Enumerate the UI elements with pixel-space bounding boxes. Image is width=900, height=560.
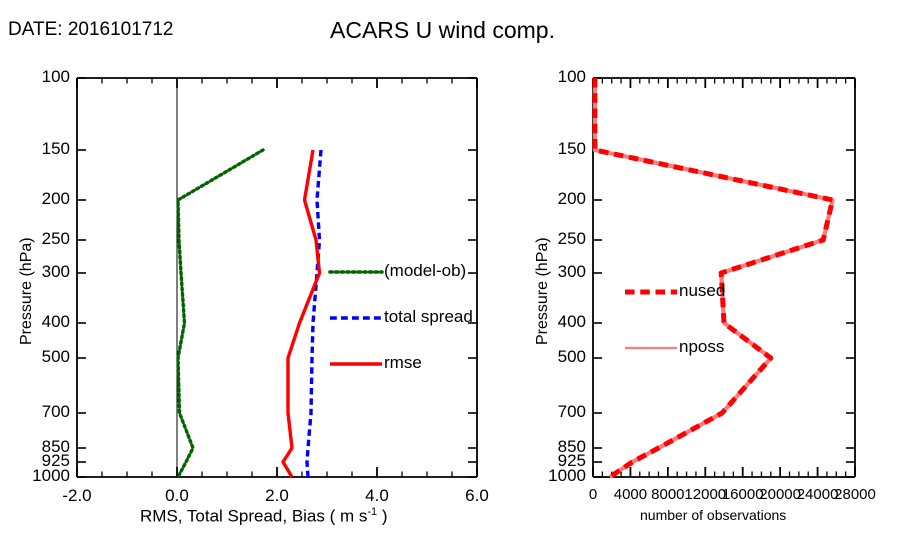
right-series-group	[595, 78, 833, 477]
y-tick-label: 200	[15, 189, 70, 209]
y-tick-label: 100	[531, 67, 586, 87]
series-line-nposs	[595, 78, 833, 477]
y-tick-label: 500	[15, 347, 70, 367]
y-tick-label: 500	[531, 347, 586, 367]
x-tick-label: 2.0	[232, 486, 322, 506]
right-axes-frame	[593, 78, 855, 477]
y-tick-label: 400	[15, 312, 70, 332]
y-tick-label: 400	[531, 312, 586, 332]
y-tick-label: 100	[15, 67, 70, 87]
y-tick-label: 300	[531, 262, 586, 282]
y-tick-label: 150	[531, 139, 586, 159]
x-tick-label: 0.0	[132, 486, 222, 506]
chart-page: DATE: 2016101712 ACARS U wind comp. Pres…	[0, 0, 900, 560]
y-tick-label: 700	[15, 402, 70, 422]
legend-label-modelob: (model-ob)	[384, 261, 466, 281]
y-tick-label: 700	[531, 402, 586, 422]
right-legend-lines	[625, 292, 677, 348]
right-x-axis-label: number of observations	[640, 507, 786, 523]
y-tick-label: 250	[15, 229, 70, 249]
x-tick-label: -2.0	[32, 486, 122, 506]
x-tick-label: 6.0	[432, 486, 522, 506]
y-tick-label: 300	[15, 262, 70, 282]
legend-label-rmse: rmse	[384, 353, 422, 373]
y-tick-label: 200	[531, 189, 586, 209]
legend-label-nused: nused	[679, 281, 725, 301]
y-tick-label: 250	[531, 229, 586, 249]
y-tick-label: 150	[15, 139, 70, 159]
x-tick-label: 4.0	[332, 486, 422, 506]
legend-label-nposs: nposs	[679, 337, 724, 357]
y-tick-label: 1000	[15, 466, 70, 486]
legend-label-totalspread: total spread	[384, 307, 473, 327]
y-tick-label: 1000	[531, 466, 586, 486]
x-tick-label: 28000	[810, 486, 900, 503]
